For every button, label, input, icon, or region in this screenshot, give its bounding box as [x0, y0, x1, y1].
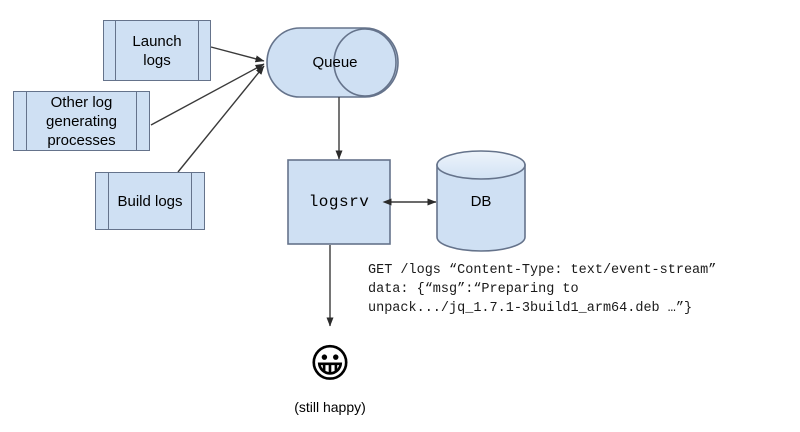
payload-annotation: GET /logs “Content-Type: text/event-stre… — [368, 261, 788, 318]
edge-build-logs-to-queue — [178, 66, 264, 172]
other-processes-line2: generating — [46, 113, 117, 130]
node-other-processes-label: Other log generating processes — [13, 91, 150, 151]
node-queue-label: Queue — [280, 28, 390, 97]
payload-line-1: GET /logs “Content-Type: text/event-stre… — [368, 263, 716, 278]
payload-line-3: unpack.../jq_1.7.1-3build1_arm64.deb …”} — [368, 301, 692, 316]
grinning-face-emoji: 😀 — [306, 340, 354, 388]
launch-logs-line2: logs — [143, 52, 171, 69]
other-processes-line3: processes — [47, 132, 115, 149]
payload-line-2: data: {“msg”:“Preparing to — [368, 282, 579, 297]
other-processes-line1: Other log — [51, 94, 113, 111]
node-launch-logs-label: Launch logs — [103, 20, 211, 81]
edge-launch-logs-to-queue — [211, 47, 264, 61]
node-logsrv-label: logsrv — [288, 160, 390, 244]
node-db-label: DB — [437, 165, 525, 237]
node-build-logs-label: Build logs — [95, 172, 205, 230]
emoji-caption: (still happy) — [240, 398, 420, 416]
launch-logs-line1: Launch — [132, 33, 181, 50]
